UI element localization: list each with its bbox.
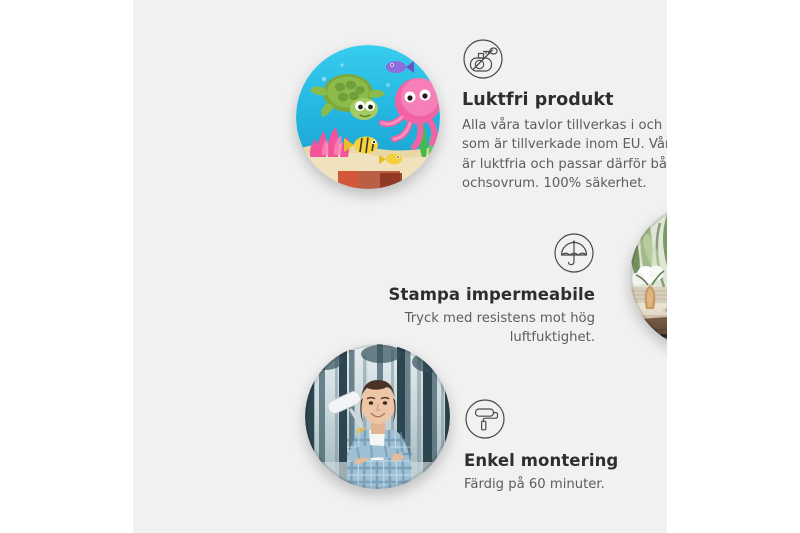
feature-body: Färdig på 60 minuter. — [464, 475, 667, 494]
feature-waterproof: Stampa impermeabile Tryck med resistens … — [341, 232, 595, 347]
feature-easy-install: Enkel montering Färdig på 60 minuter. — [464, 398, 667, 494]
feature-body: Tryck med resistens mot hög luftfuktighe… — [341, 309, 595, 347]
feature-title: Stampa impermeabile — [341, 284, 595, 305]
photo-bathroom — [630, 203, 667, 349]
content-panel: Luktfri produkt Alla våra tavlor tillver… — [133, 0, 667, 533]
photo-painter — [305, 344, 450, 489]
feature-title: Luktfri produkt — [462, 89, 667, 111]
umbrella-icon — [553, 232, 595, 274]
feature-odourless: Luktfri produkt Alla våra tavlor tillver… — [462, 38, 667, 194]
feature-body: Alla våra tavlor tillverkas i och av pro… — [462, 116, 667, 194]
no-fragrance-spray-icon — [462, 38, 504, 80]
feature-title: Enkel montering — [464, 450, 667, 471]
screenshot-root: Luktfri produkt Alla våra tavlor tillver… — [0, 0, 800, 533]
paint-roller-icon — [464, 398, 506, 440]
photo-underwater — [296, 45, 440, 189]
